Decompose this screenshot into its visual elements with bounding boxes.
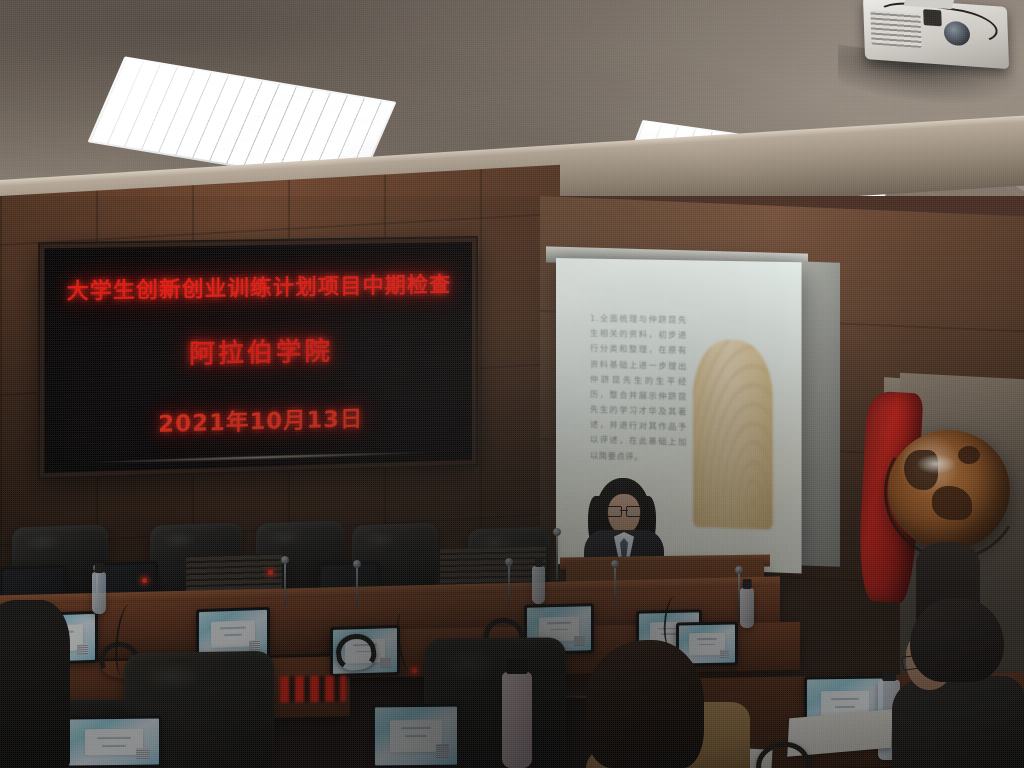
- conference-room-photo: 大学生创新创业训练计划项目中期检查 阿拉伯学院 2021年10月13日 1.全面…: [0, 0, 1024, 768]
- led-wall-display[interactable]: 大学生创新创业训练计划项目中期检查 阿拉伯学院 2021年10月13日: [40, 238, 476, 477]
- water-bottle[interactable]: [740, 588, 754, 628]
- desk-led-indicator: [280, 675, 346, 702]
- audience-person-left: [0, 600, 70, 768]
- globe-icon: [888, 430, 1010, 550]
- wall-grey-panel: [796, 261, 840, 567]
- status-indicator-led: [268, 570, 273, 575]
- water-bottle[interactable]: [92, 572, 106, 614]
- audience-person-center: [586, 640, 750, 768]
- slide-photo-sand-dune: [693, 339, 773, 530]
- status-indicator-led: [142, 578, 147, 583]
- status-indicator-led: [412, 668, 417, 673]
- conference-monitor-foreground[interactable]: [66, 715, 162, 768]
- slide-body-text: 1.全面梳理与仲跻昆先生相关的资料，初步进行分类和整理，在原有资料基础上进一步理…: [590, 311, 687, 466]
- conference-monitor-foreground[interactable]: [372, 704, 460, 768]
- led-bottom-glow: [88, 450, 430, 464]
- led-title-text: 大学生创新创业训练计划项目中期检查: [67, 268, 451, 305]
- audience-person-right: [884, 598, 1024, 768]
- thermos-bottle[interactable]: [502, 672, 532, 768]
- water-bottle[interactable]: [532, 566, 545, 604]
- led-date-text: 2021年10月13日: [158, 401, 363, 439]
- led-organization-text: 阿拉伯学院: [189, 331, 333, 371]
- eyeglasses-icon: [607, 506, 641, 515]
- projector-icon: [863, 0, 1009, 69]
